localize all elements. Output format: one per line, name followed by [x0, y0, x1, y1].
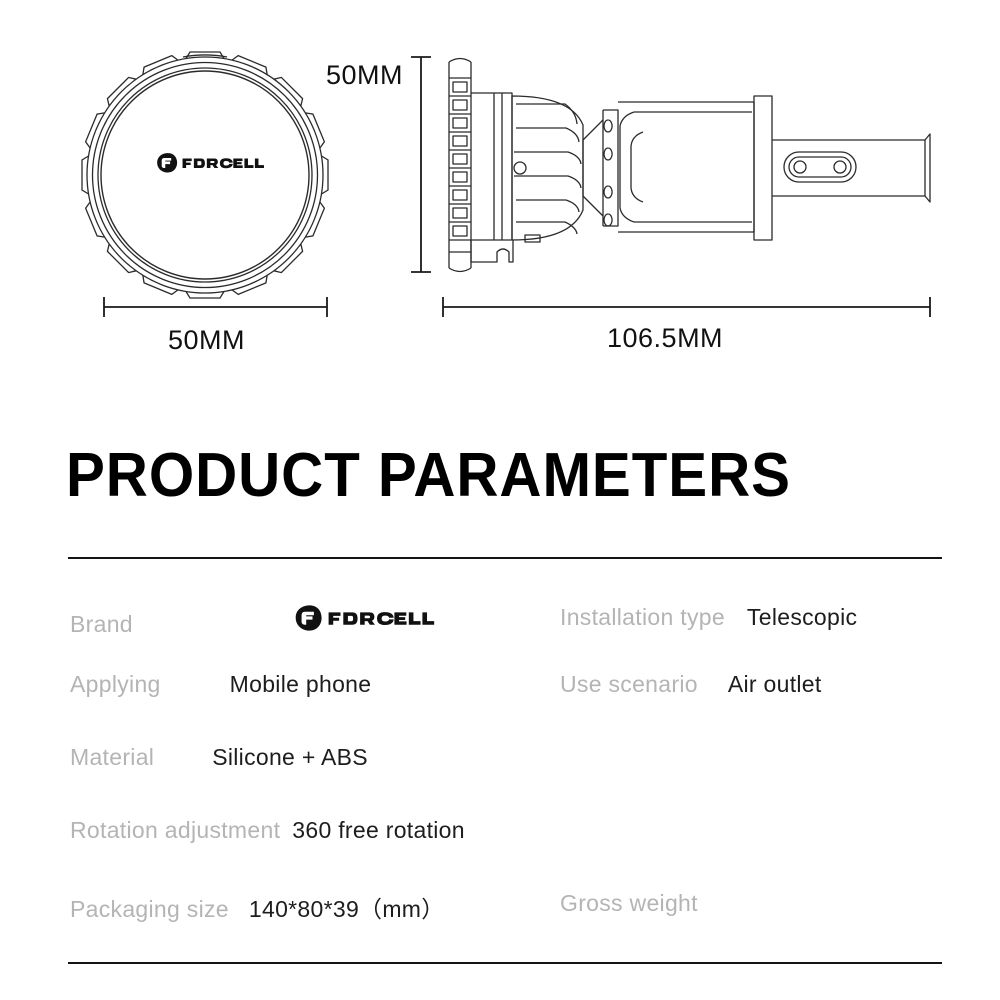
dim-line-length [443, 297, 930, 317]
front-view-forcell-logo [157, 153, 264, 172]
product-technical-drawing: 50MM 50MM 106.5MM [0, 0, 1000, 400]
side-telescoping-arm [772, 134, 930, 202]
param-label-gross-weight: Gross weight [560, 890, 698, 917]
param-label-applying: Applying [70, 671, 161, 698]
disc-knurled-rim [87, 55, 323, 293]
drawing-canvas [0, 0, 1000, 400]
divider-top [68, 557, 942, 559]
param-value-installation-type: Telescopic [747, 604, 857, 631]
disc-teeth [82, 52, 328, 298]
side-mounting-bracket [603, 110, 618, 226]
product-parameters-table: Brand Installation type Telescopic Apply… [0, 560, 1000, 960]
param-row-applying: Applying Mobile phone [70, 671, 371, 698]
param-value-packaging-size: 140*80*39（mm） [249, 890, 445, 924]
side-finned-housing [512, 96, 583, 242]
param-value-material: Silicone + ABS [212, 744, 368, 771]
param-row-installation-type: Installation type Telescopic [560, 604, 857, 631]
side-tapered-neck [583, 120, 603, 216]
param-label-brand: Brand [70, 611, 133, 638]
side-view-assembly [449, 59, 930, 272]
param-value-rotation-adjustment: 360 free rotation [292, 817, 465, 844]
param-row-packaging-size: Packaging size 140*80*39（mm） [70, 890, 445, 924]
side-body-cylinder [471, 93, 513, 262]
param-value-applying: Mobile phone [230, 671, 372, 698]
dim-line-height [411, 57, 431, 272]
dimension-label-width: 50MM [168, 325, 245, 356]
param-value-use-scenario: Air outlet [728, 671, 822, 698]
front-view-disc [82, 52, 328, 298]
param-label-material: Material [70, 744, 154, 771]
param-row-brand: Brand [70, 604, 469, 638]
param-row-gross-weight: Gross weight [560, 890, 698, 917]
param-label-installation-type: Installation type [560, 604, 725, 631]
side-clamp-shell [618, 102, 754, 232]
param-row-use-scenario: Use scenario Air outlet [560, 671, 822, 698]
disc-face [101, 71, 309, 279]
divider-bottom [68, 962, 942, 964]
param-label-use-scenario: Use scenario [560, 671, 698, 698]
side-disc-edge [449, 59, 471, 272]
dim-line-width [104, 297, 327, 317]
dimension-label-length: 106.5MM [607, 323, 723, 354]
param-label-packaging-size: Packaging size [70, 896, 229, 923]
forcell-logo-mark [261, 604, 469, 632]
param-row-rotation-adjustment: Rotation adjustment 360 free rotation [70, 817, 465, 844]
param-label-rotation-adjustment: Rotation adjustment [70, 817, 280, 844]
param-row-material: Material Silicone + ABS [70, 744, 368, 771]
side-faceplate [754, 96, 772, 240]
page-title: PRODUCT PARAMETERS [66, 440, 791, 511]
dimension-label-height: 50MM [326, 60, 403, 91]
